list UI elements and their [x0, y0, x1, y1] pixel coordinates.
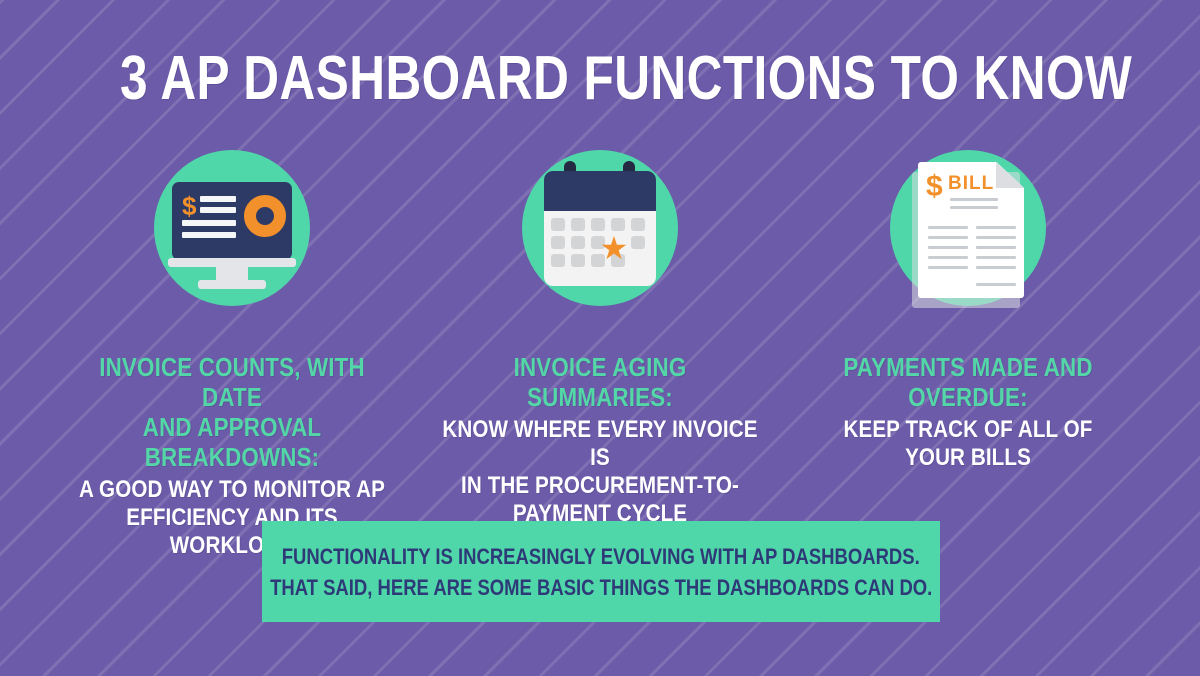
- feature-heading: INVOICE AGING SUMMARIES:: [440, 352, 760, 412]
- donut-chart-icon: [244, 195, 286, 237]
- calendar-cell: [631, 236, 645, 249]
- bill-line: [950, 198, 998, 201]
- feature-body: KNOW WHERE EVERY INVOICE IS IN THE PROCU…: [440, 416, 760, 528]
- bill-line: [976, 256, 1016, 259]
- bill-line: [928, 266, 968, 269]
- monitor-text-bar: [182, 220, 236, 226]
- bill-line: [976, 266, 1016, 269]
- bill-line: [976, 226, 1016, 229]
- feature-heading: PAYMENTS MADE AND OVERDUE:: [808, 352, 1128, 412]
- dollar-sign-icon: $: [926, 172, 943, 202]
- monitor-stand-base: [198, 280, 266, 289]
- bill-line: [928, 256, 968, 259]
- calendar-cell: [551, 218, 565, 231]
- calendar-cell: [571, 254, 585, 267]
- bill-line: [928, 236, 968, 239]
- bill-line: [950, 206, 998, 209]
- bill-label: BILL: [948, 174, 994, 193]
- bill-line: [976, 236, 1016, 239]
- feature-column-invoice-aging: ★ INVOICE AGING SUMMARIES: KNOW WHERE EV…: [400, 150, 800, 528]
- monitor-text-bar: [182, 232, 236, 238]
- monitor-dashboard-icon: $: [154, 150, 310, 306]
- bill-line: [928, 246, 968, 249]
- calendar-cell: [631, 218, 645, 231]
- calendar-cell: [551, 236, 565, 249]
- bill-line: [976, 246, 1016, 249]
- infographic-canvas: 3 AP DASHBOARD FUNCTIONS TO KNOW $ INVOI…: [0, 0, 1200, 676]
- feature-heading: INVOICE COUNTS, WITH DATE AND APPROVAL B…: [72, 352, 392, 472]
- feature-column-payments: $ BILL PAYMENTS MADE AND OVERDUE: KEEP T…: [768, 150, 1168, 472]
- feature-body: KEEP TRACK OF ALL OF YOUR BILLS: [808, 416, 1128, 472]
- calendar-cell: [571, 236, 585, 249]
- calendar-header: [544, 171, 656, 213]
- calendar-star-icon: ★: [522, 150, 678, 306]
- banner-line-2: THAT SAID, HERE ARE SOME BASIC THINGS TH…: [270, 572, 932, 603]
- monitor-text-bar: [200, 207, 236, 213]
- bill-document-icon: $ BILL: [890, 150, 1046, 306]
- banner-line-1: FUNCTIONALITY IS INCREASINGLY EVOLVING W…: [282, 541, 920, 572]
- feature-text-block: INVOICE AGING SUMMARIES: KNOW WHERE EVER…: [400, 352, 800, 528]
- calendar-cell: [571, 218, 585, 231]
- bill-line: [976, 283, 1016, 286]
- monitor-text-bar: [200, 196, 236, 202]
- bill-line: [928, 226, 968, 229]
- feature-text-block: PAYMENTS MADE AND OVERDUE: KEEP TRACK OF…: [768, 352, 1168, 472]
- dollar-sign-icon: $: [182, 193, 196, 219]
- star-icon: ★: [599, 233, 629, 263]
- page-title: 3 AP DASHBOARD FUNCTIONS TO KNOW: [120, 48, 1080, 110]
- feature-column-invoice-counts: $ INVOICE COUNTS, WITH DATE AND APPROVAL…: [32, 150, 432, 560]
- summary-banner: FUNCTIONALITY IS INCREASINGLY EVOLVING W…: [262, 521, 940, 622]
- calendar-cell: [551, 254, 565, 267]
